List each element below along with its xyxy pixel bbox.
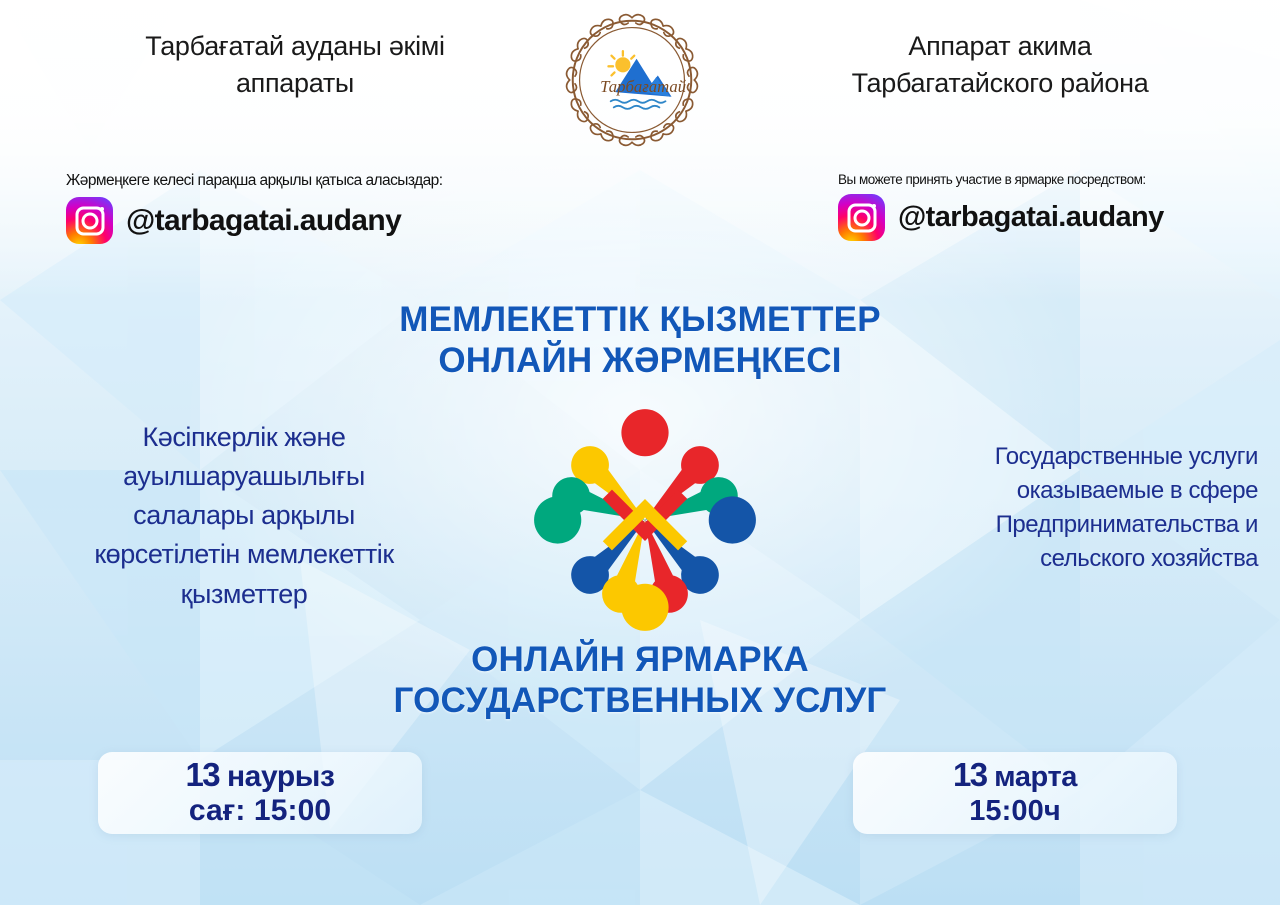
description-kazakh: Кәсіпкерлік және ауылшаруашылығы салалар…	[34, 418, 454, 614]
date-box-kazakh: 13 наурыз сағ: 15:00	[98, 752, 422, 834]
emblem-script-label: Тарбағатай	[600, 77, 687, 96]
instagram-handle-kazakh[interactable]: @tarbagatai.audany	[126, 204, 401, 238]
instagram-icon[interactable]	[66, 197, 113, 244]
instagram-icon[interactable]	[838, 194, 885, 241]
date-month-kazakh: наурыз	[227, 760, 335, 793]
time-value-kazakh: 15:00	[254, 794, 331, 827]
date-month-russian: марта	[994, 761, 1077, 793]
main-title-russian: ОНЛАЙН ЯРМАРКА ГОСУДАРСТВЕННЫХ УСЛУГ	[0, 640, 1280, 721]
instagram-icon-dot	[100, 207, 104, 211]
instagram-icon-dot	[872, 204, 876, 208]
logo-circle-north	[621, 409, 668, 456]
people-circle-logo-icon	[527, 402, 763, 638]
instagram-caption-kazakh: Жәрмеңкеге келесі парақша арқылы қатыса …	[66, 172, 626, 190]
logo-circle-west	[534, 496, 581, 543]
description-russian: Государственные услуги оказываемые в сфе…	[878, 440, 1258, 576]
instagram-block-kazakh: Жәрмеңкеге келесі парақша арқылы қатыса …	[66, 172, 626, 244]
poster-canvas: Тарбағатай ауданы әкімі аппараты Аппарат…	[0, 0, 1280, 905]
header-title-kazakh: Тарбағатай ауданы әкімі аппараты	[60, 28, 530, 103]
date-box-russian: 13 марта 15:00ч	[853, 752, 1177, 834]
time-value-russian: 15:00ч	[969, 795, 1061, 827]
date-day-russian: 13	[953, 756, 987, 793]
header-title-russian: Аппарат акима Тарбагатайского района	[760, 28, 1240, 103]
date-line-russian: 13 марта	[953, 757, 1077, 793]
tarbagatai-emblem-icon: Тарбағатай	[556, 4, 708, 156]
date-day-kazakh: 13	[185, 756, 219, 793]
time-label-kazakh: сағ:	[189, 794, 246, 827]
instagram-handle-russian[interactable]: @tarbagatai.audany	[898, 201, 1164, 234]
time-line-kazakh: сағ: 15:00	[189, 793, 331, 829]
instagram-caption-russian: Вы можете принять участие в ярмарке поср…	[838, 172, 1278, 187]
logo-circle-east	[709, 496, 756, 543]
main-title-kazakh: МЕМЛЕКЕТТІК ҚЫЗМЕТТЕР ОНЛАЙН ЖӘРМЕҢКЕСІ	[0, 300, 1280, 381]
date-line-kazakh: 13 наурыз	[185, 757, 334, 793]
logo-circle-south	[621, 584, 668, 631]
instagram-block-russian: Вы можете принять участие в ярмарке поср…	[838, 172, 1278, 241]
time-line-russian: 15:00ч	[969, 794, 1061, 829]
